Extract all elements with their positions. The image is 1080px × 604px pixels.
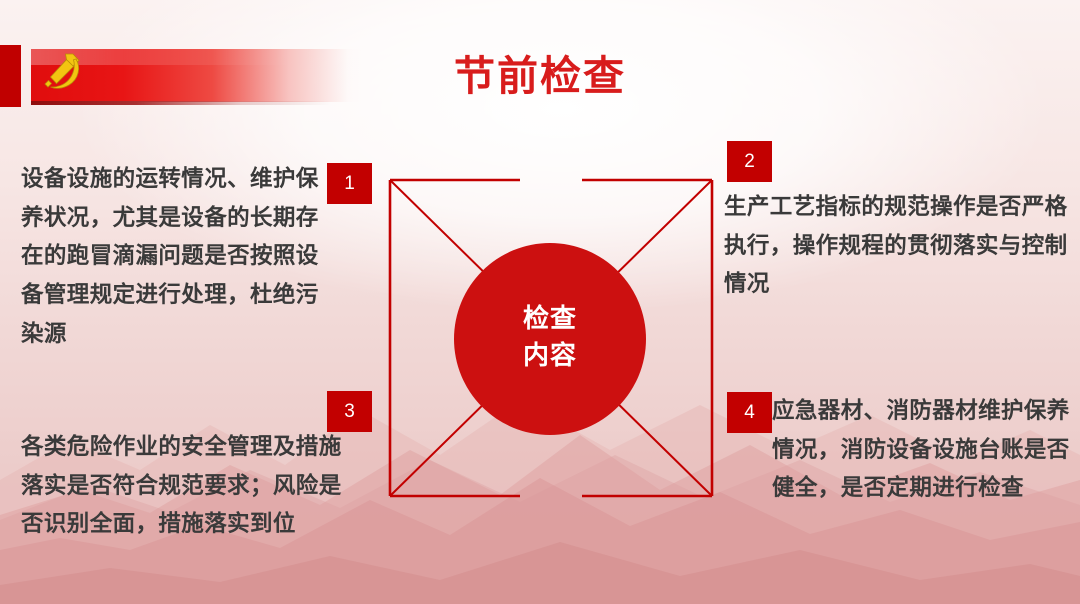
badge-number-2: 2 [727,141,772,182]
center-circle-label: 检查 内容 [455,300,645,374]
center-label-line2: 内容 [455,337,645,374]
badge-number-3: 3 [327,391,372,432]
content-text-2: 生产工艺指标的规范操作是否严格执行，操作规程的贯彻落实与控制情况 [724,188,1074,304]
banner-underline [31,101,331,105]
content-text-1: 设备设施的运转情况、维护保养状况，尤其是设备的长期存在的跑冒滴漏问题是否按照设备… [21,160,336,353]
slide-canvas: 节前检查 检查 内容 [0,0,1080,604]
page-title: 节前检查 [0,53,1080,100]
content-text-3: 各类危险作业的安全管理及措施落实是否符合规范要求；风险是否识别全面，措施落实到位 [21,428,347,544]
content-text-4: 应急器材、消防器材维护保养情况，消防设备设施台账是否健全，是否定期进行检查 [772,392,1078,508]
center-label-line1: 检查 [455,300,645,337]
badge-number-4: 4 [727,392,772,433]
